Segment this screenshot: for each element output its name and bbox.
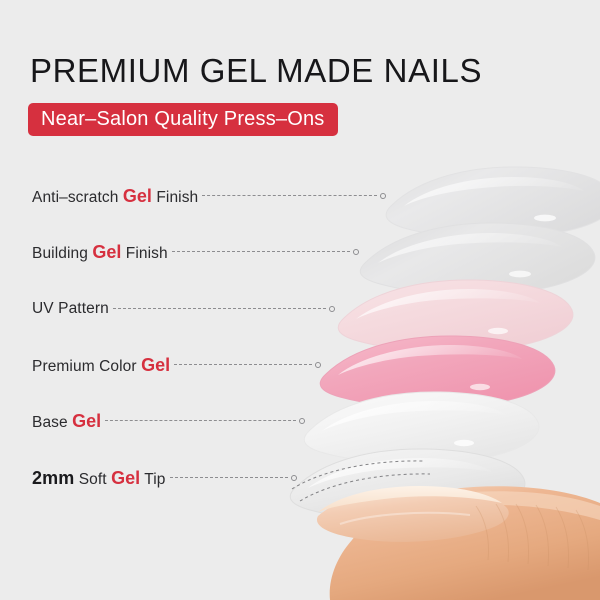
callout-building-gel-finish: Building Gel Finish — [32, 241, 350, 263]
callout-leader-line — [172, 251, 351, 253]
callout-premium-color-gel: Premium Color Gel — [32, 354, 312, 376]
layer-premium-color-gel — [320, 336, 555, 408]
callout-uv-pattern: UV Pattern — [32, 298, 326, 320]
layer-uv-pattern — [338, 280, 573, 352]
callout-label-part: Base — [32, 414, 72, 431]
callout-label-part: Gel — [141, 355, 170, 375]
callout-label-part: Gel — [123, 186, 152, 206]
callout-label-part: Gel — [72, 411, 101, 431]
callout-leader-line — [113, 308, 326, 310]
callout-label-part: Gel — [111, 468, 140, 488]
callout-leader-line — [174, 364, 312, 366]
callout-2mm-soft-gel-tip: 2mm Soft Gel Tip — [32, 467, 288, 489]
callout-leader-line — [105, 420, 296, 422]
callout-label-part: Finish — [121, 245, 167, 262]
callout-label-part: Gel — [92, 242, 121, 262]
callout-leader-line — [170, 477, 288, 479]
callout-label-part: Finish — [152, 189, 198, 206]
callout-label-part: Soft — [74, 471, 111, 488]
callout-endpoint-marker — [299, 418, 305, 424]
callout-label: Premium Color Gel — [32, 355, 170, 376]
layer-anti-scratch-gel-finish — [386, 167, 600, 238]
subtitle-badge: Near–Salon Quality Press–Ons — [28, 103, 338, 136]
callout-endpoint-marker — [329, 306, 335, 312]
callout-label: Anti–scratch Gel Finish — [32, 186, 198, 207]
fingertip — [317, 486, 600, 600]
layer-soft-gel-tip — [290, 449, 525, 521]
callout-label-part: Building — [32, 245, 92, 262]
infographic-canvas: PREMIUM GEL MADE NAILS Near–Salon Qualit… — [0, 0, 600, 600]
callout-label: 2mm Soft Gel Tip — [32, 468, 166, 489]
callout-label: Building Gel Finish — [32, 242, 168, 263]
callout-endpoint-marker — [291, 475, 297, 481]
callout-label-part: Anti–scratch — [32, 189, 123, 206]
callout-endpoint-marker — [315, 362, 321, 368]
callout-endpoint-marker — [380, 193, 386, 199]
callout-endpoint-marker — [353, 249, 359, 255]
layer-building-gel-finish — [360, 223, 595, 295]
callout-label: Base Gel — [32, 411, 101, 432]
callout-anti-scratch-gel-finish: Anti–scratch Gel Finish — [32, 185, 377, 207]
layer-base-gel — [304, 392, 539, 464]
callout-base-gel: Base Gel — [32, 410, 296, 432]
subtitle-badge-label: Near–Salon Quality Press–Ons — [41, 109, 325, 129]
callout-label-part: UV Pattern — [32, 300, 109, 317]
callout-label-part: Tip — [140, 471, 165, 488]
callout-label-part: 2mm — [32, 468, 74, 488]
callout-label-part: Premium Color — [32, 358, 141, 375]
callout-leader-line — [202, 195, 376, 197]
callout-label: UV Pattern — [32, 300, 109, 318]
page-title: PREMIUM GEL MADE NAILS — [30, 52, 482, 90]
